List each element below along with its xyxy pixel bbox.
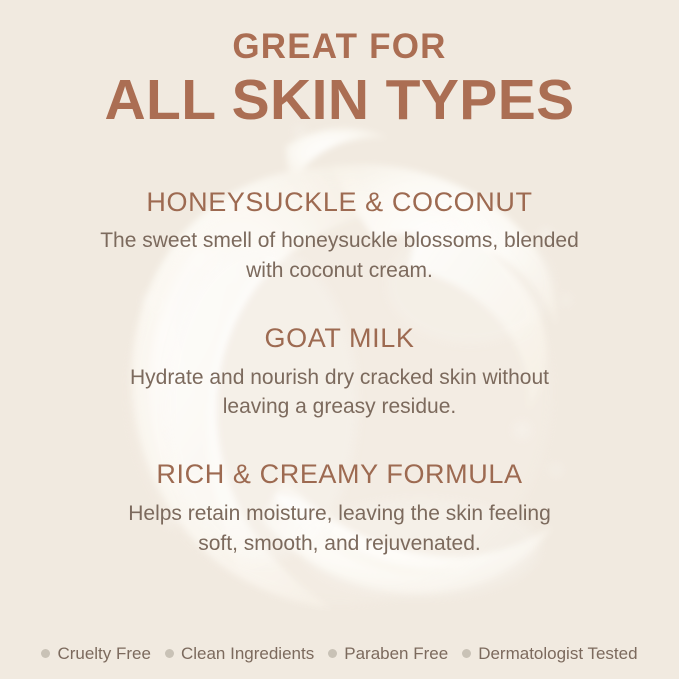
claim-badge-clean-ingredients: Clean Ingredients <box>165 645 328 662</box>
bullet-dot-icon <box>462 649 471 658</box>
page-title: ALL SKIN TYPES <box>0 70 679 132</box>
content-area: GREAT FOR ALL SKIN TYPES HONEYSUCKLE & C… <box>0 0 679 679</box>
claim-badge-label: Cruelty Free <box>57 645 151 662</box>
claims-badge-row: Cruelty Free Clean Ingredients Paraben F… <box>0 645 679 662</box>
benefit-title: RICH & CREAMY FORMULA <box>0 460 679 490</box>
bullet-dot-icon <box>41 649 50 658</box>
benefit-title: HONEYSUCKLE & COCONUT <box>0 188 679 218</box>
product-benefits-infographic: GREAT FOR ALL SKIN TYPES HONEYSUCKLE & C… <box>0 0 679 679</box>
benefit-description: Helps retain moisture, leaving the skin … <box>75 499 605 559</box>
claim-badge-paraben-free: Paraben Free <box>328 645 462 662</box>
benefit-description: Hydrate and nourish dry cracked skin wit… <box>75 363 605 423</box>
bullet-dot-icon <box>165 649 174 658</box>
benefit-section: RICH & CREAMY FORMULA Helps retain moist… <box>0 460 679 558</box>
benefit-description-line: Hydrate and nourish dry cracked skin wit… <box>75 363 605 393</box>
benefit-section: HONEYSUCKLE & COCONUT The sweet smell of… <box>0 188 679 286</box>
page-title-eyebrow: GREAT FOR <box>0 29 679 64</box>
claim-badge-dermatologist-tested: Dermatologist Tested <box>462 645 637 662</box>
benefit-description-line: soft, smooth, and rejuvenated. <box>75 529 605 559</box>
bullet-dot-icon <box>328 649 337 658</box>
benefit-description: The sweet smell of honeysuckle blossoms,… <box>75 226 605 286</box>
benefit-sections: HONEYSUCKLE & COCONUT The sweet smell of… <box>0 188 679 559</box>
benefit-description-line: Helps retain moisture, leaving the skin … <box>75 499 605 529</box>
claim-badge-cruelty-free: Cruelty Free <box>41 645 165 662</box>
benefit-section: GOAT MILK Hydrate and nourish dry cracke… <box>0 324 679 422</box>
benefit-description-line: with coconut cream. <box>75 256 605 286</box>
benefit-description-line: The sweet smell of honeysuckle blossoms,… <box>75 226 605 256</box>
benefit-title: GOAT MILK <box>0 324 679 354</box>
benefit-description-line: leaving a greasy residue. <box>75 392 605 422</box>
claim-badge-label: Clean Ingredients <box>181 645 314 662</box>
claim-badge-label: Paraben Free <box>344 645 448 662</box>
headline-block: GREAT FOR ALL SKIN TYPES <box>0 0 679 132</box>
claim-badge-label: Dermatologist Tested <box>478 645 637 662</box>
